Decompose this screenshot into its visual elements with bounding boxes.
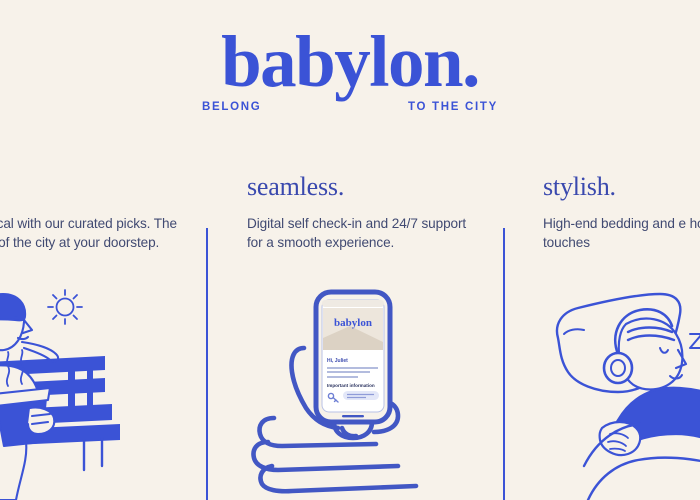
phone-greeting: Hi, Juliet xyxy=(327,358,348,364)
column-divider-left xyxy=(206,228,208,500)
feature-body-seamless: Digital self check-in and 24/7 support f… xyxy=(247,214,479,253)
person-sleeping-on-pillow-illustration xyxy=(540,288,700,500)
person-on-bench-with-coffee-illustration xyxy=(0,282,200,500)
column-divider-right xyxy=(503,228,505,500)
feature-title-seamless: seamless. xyxy=(247,172,479,202)
feature-body-local: e a local with our curated picks. The he… xyxy=(0,214,189,253)
hand-holding-phone-illustration: babylon Hi, Juliet Important information xyxy=(258,282,448,500)
tagline-belong: BELONG xyxy=(202,101,261,113)
feature-title-stylish: stylish. xyxy=(543,172,700,202)
feature-column-local: ral. e a local with our curated picks. T… xyxy=(0,172,189,253)
feature-column-seamless: seamless. Digital self check-in and 24/7… xyxy=(247,172,479,253)
tagline-to-the-city: TO THE CITY xyxy=(408,101,498,113)
feature-title-local: ral. xyxy=(0,172,189,202)
marketing-page: babylon. BELONG TO THE CITY ral. e a loc… xyxy=(0,0,700,500)
sleep-zzz-icon xyxy=(690,304,700,348)
brand-logo-wordmark[interactable]: babylon. xyxy=(221,28,479,97)
feature-body-stylish: High-end bedding and e homely touches xyxy=(543,214,700,253)
phone-section-heading: Important information xyxy=(327,383,375,388)
feature-column-stylish: stylish. High-end bedding and e homely t… xyxy=(543,172,700,253)
site-header: babylon. BELONG TO THE CITY xyxy=(0,28,700,148)
phone-app-logo: babylon xyxy=(334,317,372,329)
sun-icon xyxy=(48,290,82,324)
brand-tagline: BELONG TO THE CITY xyxy=(202,101,498,113)
